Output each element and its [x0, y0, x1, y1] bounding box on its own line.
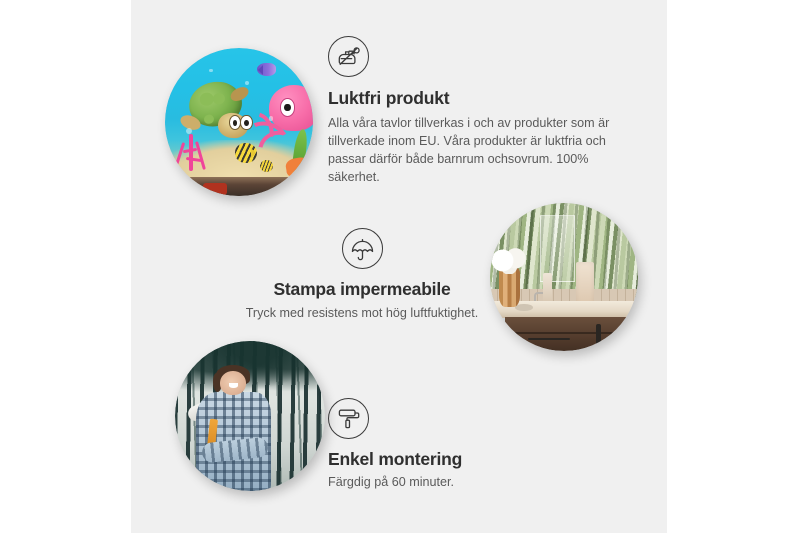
tall-decor-box — [576, 262, 594, 306]
purple-fish — [257, 63, 276, 76]
feature-block-odour-free: Luktfri produkt Alla våra tavlor tillver… — [328, 36, 624, 187]
feature-description: Alla våra tavlor tillverkas i och av pro… — [328, 115, 624, 187]
pink-coral — [172, 131, 213, 175]
underwater-cartoon-photo — [165, 48, 313, 196]
person-smile — [229, 383, 238, 388]
feature-title: Enkel montering — [328, 449, 608, 470]
octopus-eye — [280, 98, 295, 116]
infographic-canvas: Luktfri produkt Alla våra tavlor tillver… — [131, 0, 667, 533]
yellow-striped-fish — [235, 143, 257, 164]
wood-vanity-cabinet — [505, 317, 638, 351]
feature-block-waterproof: Stampa impermeabile Tryck med resistens … — [206, 228, 518, 323]
bubble — [269, 116, 273, 120]
soap-bottle — [543, 273, 552, 303]
bathroom-mirror — [540, 215, 575, 282]
feature-description: Färgdig på 60 minuter. — [328, 474, 608, 492]
feature-title: Stampa impermeabile — [206, 279, 518, 300]
forest-wallpaper-installer-photo — [175, 341, 325, 491]
forest-canopy — [175, 341, 325, 392]
no-fragrance-icon — [328, 36, 369, 77]
infographic-stage: Luktfri produkt Alla våra tavlor tillver… — [0, 0, 800, 533]
umbrella-icon — [342, 228, 383, 269]
feature-block-easy-mounting: Enkel montering Färgdig på 60 minuter. — [328, 398, 608, 492]
feature-title: Luktfri produkt — [328, 88, 624, 109]
bubble — [186, 128, 192, 134]
feature-description: Tryck med resistens mot hög luftfuktighe… — [206, 305, 518, 323]
ocean-foreground-strip — [165, 177, 313, 196]
paint-roller-icon — [328, 398, 369, 439]
